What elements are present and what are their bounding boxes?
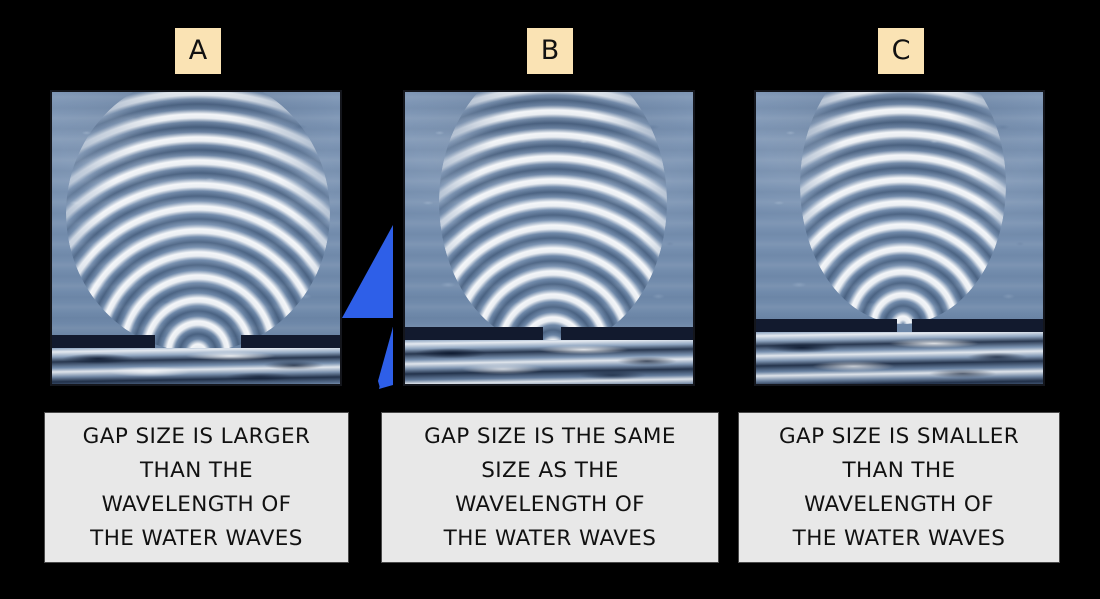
foreground-blobs-b	[405, 340, 693, 384]
caption-a-line-3: WAVELENGTH OF	[102, 488, 292, 522]
caption-a-line-1: GAP SIZE IS LARGER	[83, 420, 311, 454]
foreground-blobs-a	[52, 348, 340, 384]
caption-a-line-4: THE WATER WAVES	[90, 522, 303, 556]
caption-b-line-3: WAVELENGTH OF	[455, 488, 645, 522]
panel-label-b: B	[527, 28, 573, 74]
caption-b-line-1: GAP SIZE IS THE SAME	[424, 420, 676, 454]
panel-label-a: A	[175, 28, 221, 74]
caption-box-b: GAP SIZE IS THE SAME SIZE AS THE WAVELEN…	[381, 412, 719, 563]
panel-label-c: C	[878, 28, 924, 74]
foreground-blobs-c	[756, 332, 1043, 384]
blue-zigzag-arrow	[340, 205, 400, 390]
ripple-tank-image-c	[754, 90, 1045, 386]
caption-box-c: GAP SIZE IS SMALLER THAN THE WAVELENGTH …	[738, 412, 1060, 563]
caption-b-line-2: SIZE AS THE	[481, 454, 619, 488]
caption-box-a: GAP SIZE IS LARGER THAN THE WAVELENGTH O…	[44, 412, 349, 563]
caption-c-line-3: WAVELENGTH OF	[804, 488, 994, 522]
ripple-tank-image-b	[403, 90, 695, 386]
caption-c-line-4: THE WATER WAVES	[793, 522, 1006, 556]
caption-a-line-2: THAN THE	[140, 454, 253, 488]
caption-b-line-4: THE WATER WAVES	[444, 522, 657, 556]
caption-c-line-1: GAP SIZE IS SMALLER	[779, 420, 1019, 454]
ripple-tank-image-a	[50, 90, 342, 386]
caption-c-line-2: THAN THE	[842, 454, 955, 488]
